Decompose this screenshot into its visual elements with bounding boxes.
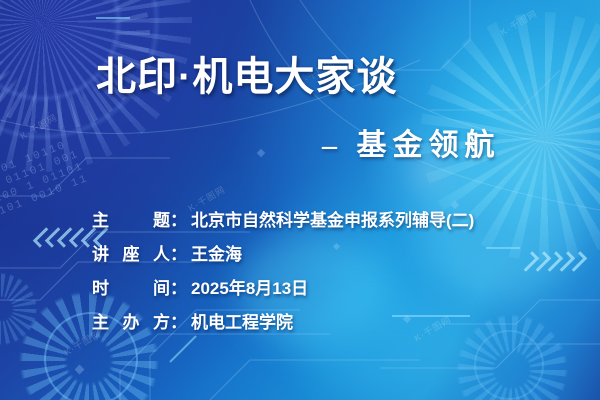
list-item: 主 题 ： 北京市自然科学基金申报系列辅导(二) [92, 206, 474, 231]
poster-canvas: 01001 10110 10 01101 001 0100 1 01101 11… [0, 0, 600, 400]
info-label-time: 时 间 [92, 274, 170, 299]
page-title: 北印·机电大家谈 [96, 44, 397, 102]
info-value-host: 机电工程学院 [191, 308, 293, 333]
event-info-list: 主 题 ： 北京市自然科学基金申报系列辅导(二) 讲座人 ： 王金海 时 间 ：… [92, 206, 474, 333]
info-colon: ： [170, 274, 187, 299]
list-item: 主办方 ： 机电工程学院 [92, 308, 474, 333]
info-colon: ： [170, 240, 187, 265]
page-subtitle: – 基金领航 [322, 120, 501, 164]
list-item: 讲座人 ： 王金海 [92, 240, 474, 265]
info-colon: ： [170, 206, 187, 231]
info-colon: ： [170, 308, 187, 333]
info-label-speaker: 讲座人 [92, 240, 170, 265]
info-label-host: 主办方 [92, 308, 170, 333]
info-label-topic: 主 题 [92, 206, 170, 231]
list-item: 时 间 ： 2025年8月13日 [92, 274, 474, 299]
poster-content: 北印·机电大家谈 – 基金领航 主 题 ： 北京市自然科学基金申报系列辅导(二)… [0, 0, 600, 400]
info-value-speaker: 王金海 [191, 240, 242, 265]
info-value-topic: 北京市自然科学基金申报系列辅导(二) [191, 206, 474, 231]
info-value-time: 2025年8月13日 [191, 274, 308, 299]
